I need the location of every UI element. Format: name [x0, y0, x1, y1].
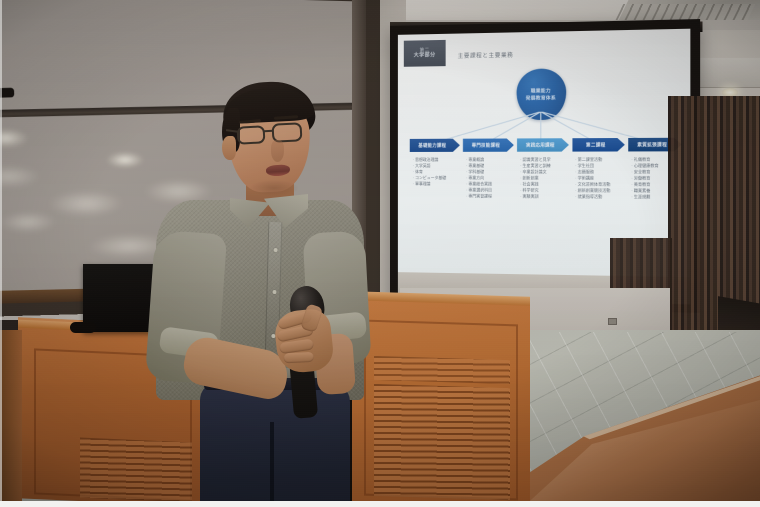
- marker-icon[interactable]: [0, 88, 14, 98]
- finger: [283, 352, 313, 364]
- slide-bullet: 専門実習課程: [466, 194, 514, 200]
- slide-chevron-label: 素質拡張課程: [637, 141, 667, 147]
- podium-left-side: [0, 330, 22, 507]
- hub-line2: 発展教育体系: [526, 95, 556, 101]
- chin-shadow: [250, 180, 298, 196]
- slide-chevron-label: 基礎能力課程: [418, 142, 446, 148]
- slide-badge: 第二 大学部分: [404, 40, 446, 67]
- slide-bullet: 軍事理論: [413, 181, 460, 187]
- slide-chevron-label: 第二課程: [586, 142, 606, 148]
- shirt-button: [274, 248, 278, 252]
- light-glint: [48, 190, 124, 218]
- light-glint: [0, 211, 56, 233]
- image-left-border: [0, 0, 2, 507]
- presenter-ear: [222, 136, 236, 160]
- wall-outlet-icon: [608, 318, 617, 325]
- slide-chevron-1: 基礎能力課程: [410, 139, 460, 152]
- slide-title: 主要課程と主要業務: [458, 51, 514, 60]
- presenter: [138, 82, 368, 507]
- slide-column-2: 専業概論専業基礎学科基礎専業方向専業総合実践専業選択科目専門実習課程: [463, 157, 514, 200]
- slide-chevron-3: 実践応用課程: [517, 138, 569, 151]
- podium-right-louvers: [374, 384, 510, 500]
- slide-chevron-label: 専門技能課程: [472, 142, 500, 148]
- slide-bullet: 実験実訓: [520, 194, 569, 200]
- slide-column-4: 第二課堂活動学生社団志願服務学術講座文化芸術体育活動創新創業競技活動就業指導活動: [572, 157, 625, 201]
- slide-columns: 思想政治理論大学英語体育コンピュータ基礎軍事理論専業概論専業基礎学科基礎専業方向…: [410, 157, 682, 201]
- hub-line1: 職業能力: [531, 88, 551, 94]
- podium-monitor-base: [70, 322, 96, 333]
- slide-bullet: 就業指導活動: [575, 194, 625, 200]
- slide-column-1: 思想政治理論大学英語体育コンピュータ基礎軍事理論: [410, 157, 460, 200]
- shirt-button: [272, 290, 276, 294]
- trouser-seam: [270, 422, 274, 507]
- light-glint: [0, 165, 41, 189]
- slide-badge-line2: 大学部分: [414, 53, 436, 59]
- presenter-trousers: [200, 382, 350, 507]
- photo-scene: 第二 大学部分 主要課程と主要業務 職業能力 発展教育体系: [0, 0, 760, 507]
- slide-chevron-label: 実践応用課程: [526, 142, 555, 148]
- slide-column-3: 認識実習と見学生産実習と訓練卒業設計論文創新創業社会実践科学研究実験実訓: [517, 157, 569, 201]
- presenter-nose: [271, 140, 284, 162]
- slide-chevron-4: 第二課程: [572, 138, 625, 152]
- light-glint: [0, 129, 28, 148]
- glasses-lens-left: [237, 125, 266, 144]
- podium-right-louvers-upper: [374, 356, 510, 384]
- chevron-row: 基礎能力課程専門技能課程実践応用課程第二課程素質拡張課程: [410, 138, 682, 152]
- slide-chevron-2: 専門技能課程: [463, 138, 514, 151]
- image-bottom-border: [0, 501, 760, 507]
- glasses-bridge: [264, 130, 273, 133]
